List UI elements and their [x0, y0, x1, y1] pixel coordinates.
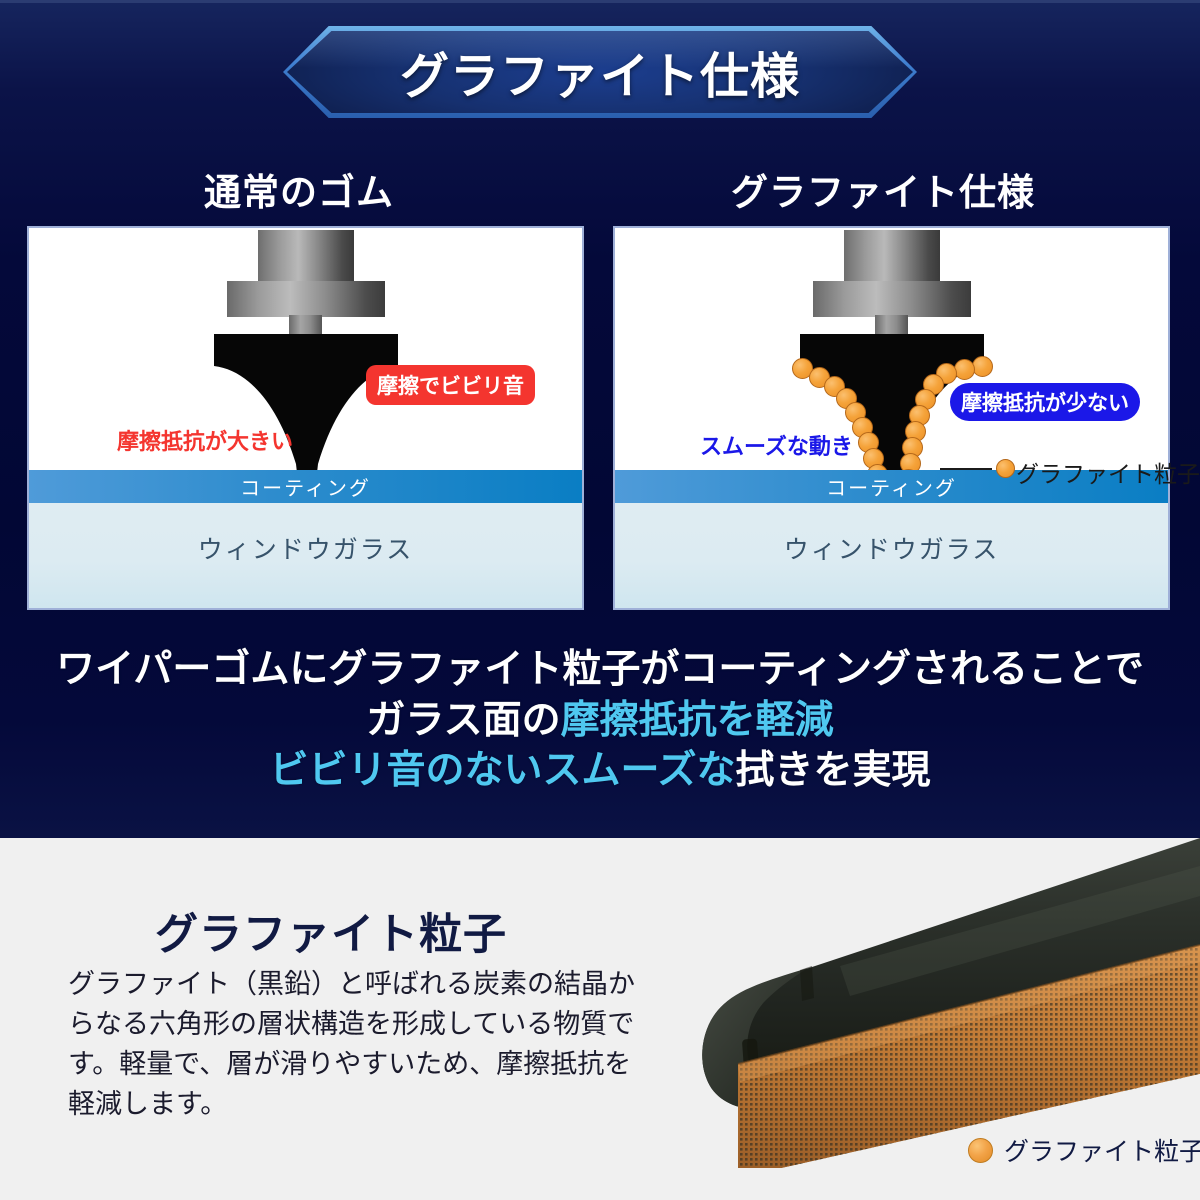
graphite-callout-dot-icon — [996, 459, 1015, 478]
wiper-metal-cylinder — [844, 230, 940, 287]
coating-layer-left: コーティング — [29, 470, 582, 503]
glass-label-right: ウィンドウガラス — [784, 530, 1000, 566]
glass-layer-left: ウィンドウガラス — [29, 503, 582, 608]
title-banner: グラファイト仕様 — [283, 26, 917, 118]
top-hairline — [0, 0, 1200, 3]
graphite-legend-label: グラファイト粒子 — [1004, 1132, 1200, 1168]
summary-line-3: ビビリ音のないスムーズな拭きを実現 — [0, 746, 1200, 797]
graphite-legend: グラファイト粒子 — [968, 1132, 1200, 1168]
summary-line-2-highlight: 摩擦抵抗を軽減 — [561, 699, 834, 742]
summary-line-1: ワイパーゴムにグラファイト粒子がコーティングされることで — [0, 645, 1200, 696]
banner-title: グラファイト仕様 — [283, 26, 917, 118]
top-section: グラファイト仕様 通常のゴム グラファイト仕様 — [0, 0, 1200, 838]
bottom-section: グラファイト粒子 グラファイト（黒鉛）と呼ばれる炭素の結晶からなる六角形の層状構… — [0, 838, 1200, 1200]
bottom-body-text: グラファイト（黒鉛）と呼ばれる炭素の結晶からなる六角形の層状構造を形成している物… — [68, 965, 638, 1125]
wiper-rubber-photo — [600, 838, 1200, 1168]
arrow-label-high-friction: 摩擦抵抗が大きい — [117, 424, 293, 456]
glass-layer-right: ウィンドウガラス — [615, 503, 1168, 608]
summary-line-2-plain: ガラス面の — [366, 699, 560, 742]
bottom-heading-graphite-particles: グラファイト粒子 — [155, 900, 507, 962]
summary-line-3-highlight-a: ビビリ音のない — [269, 749, 542, 792]
panel-heading-graphite: グラファイト仕様 — [731, 162, 1035, 216]
graphite-legend-dot-icon — [968, 1138, 993, 1163]
graphite-particle — [954, 359, 975, 380]
diagram-stage-left: コーティング ウィンドウガラス — [29, 228, 582, 608]
summary-line-2: ガラス面の摩擦抵抗を軽減 — [0, 696, 1200, 747]
wiper-metal-flange — [813, 281, 971, 317]
summary-line-3-plain: 拭きを実現 — [736, 749, 931, 792]
badge-friction-noise: 摩擦でビビリ音 — [366, 365, 535, 405]
coating-label-left: コーティング — [240, 472, 371, 501]
arrow-label-smooth-motion: スムーズな動き — [700, 429, 853, 461]
panel-heading-normal-rubber: 通常のゴム — [204, 162, 394, 216]
wiper-metal-flange — [227, 281, 385, 317]
infographic-page: グラファイト仕様 通常のゴム グラファイト仕様 — [0, 0, 1200, 1200]
graphite-callout-label: グラファイト粒子 — [1016, 455, 1200, 489]
coating-label-right: コーティング — [826, 472, 957, 501]
summary-text-block: ワイパーゴムにグラファイト粒子がコーティングされることで ガラス面の摩擦抵抗を軽… — [0, 645, 1200, 797]
graphite-callout-leader-line — [940, 468, 992, 470]
glass-label-left: ウィンドウガラス — [198, 530, 414, 566]
graphite-particle — [972, 356, 993, 377]
badge-low-friction: 摩擦抵抗が少ない — [950, 383, 1140, 421]
summary-line-3-highlight-b: スムーズな — [542, 749, 735, 792]
wiper-metal-cylinder — [258, 230, 354, 287]
diagram-panel-normal-rubber: コーティング ウィンドウガラス — [27, 226, 584, 610]
